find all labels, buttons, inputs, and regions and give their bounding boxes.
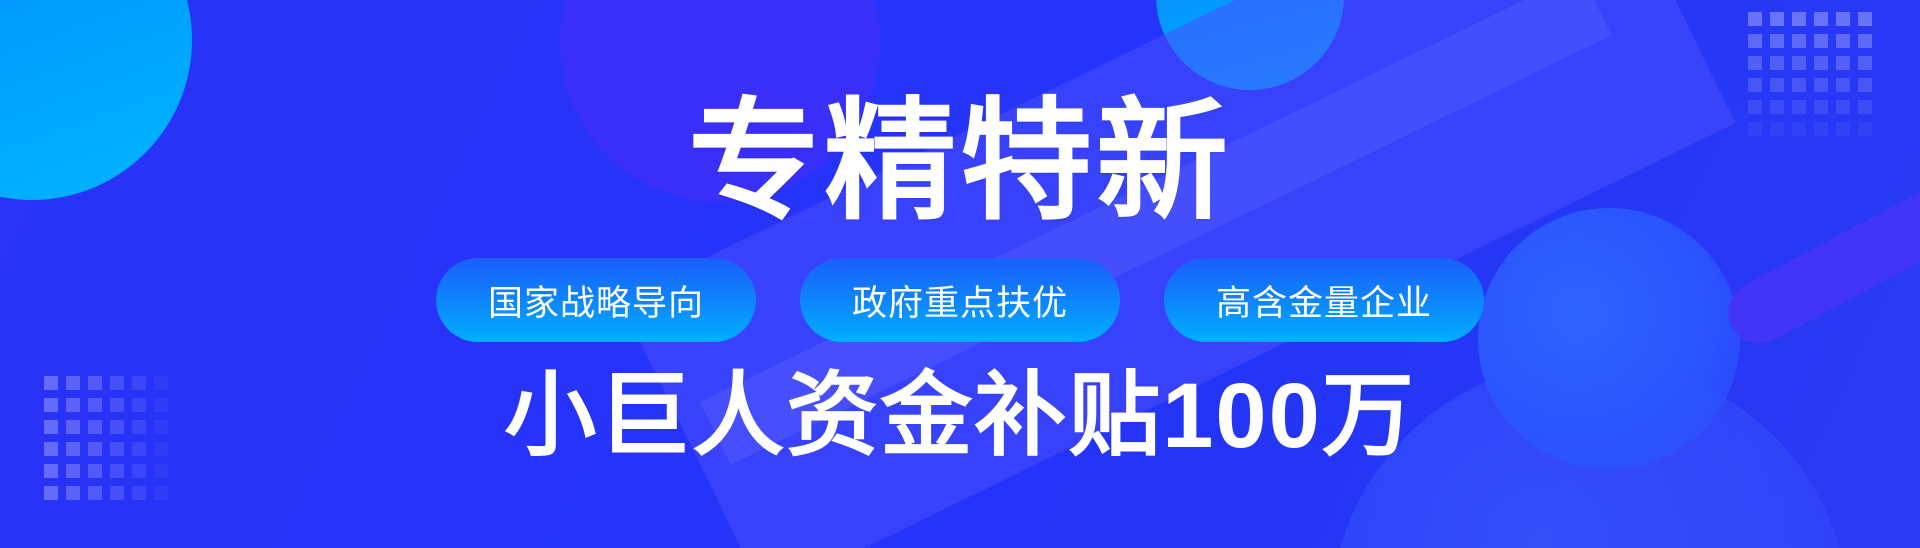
feature-tag-label: 高含金量企业: [1216, 275, 1432, 326]
banner-content: 专精特新 国家战略导向 政府重点扶优 高含金量企业 小巨人资金补贴100万: [0, 0, 1920, 548]
feature-tag-label: 国家战略导向: [488, 275, 704, 326]
feature-tag-national-strategy[interactable]: 国家战略导向: [436, 258, 756, 342]
feature-tag-row: 国家战略导向 政府重点扶优 高含金量企业: [436, 258, 1484, 342]
banner-main-title: 专精特新: [688, 96, 1232, 228]
feature-tag-high-value-enterprise[interactable]: 高含金量企业: [1164, 258, 1484, 342]
feature-tag-government-support[interactable]: 政府重点扶优: [800, 258, 1120, 342]
promotional-banner: 专精特新 国家战略导向 政府重点扶优 高含金量企业 小巨人资金补贴100万: [0, 0, 1920, 548]
banner-subsidy-headline: 小巨人资金补贴100万: [504, 370, 1416, 462]
feature-tag-label: 政府重点扶优: [852, 275, 1068, 326]
